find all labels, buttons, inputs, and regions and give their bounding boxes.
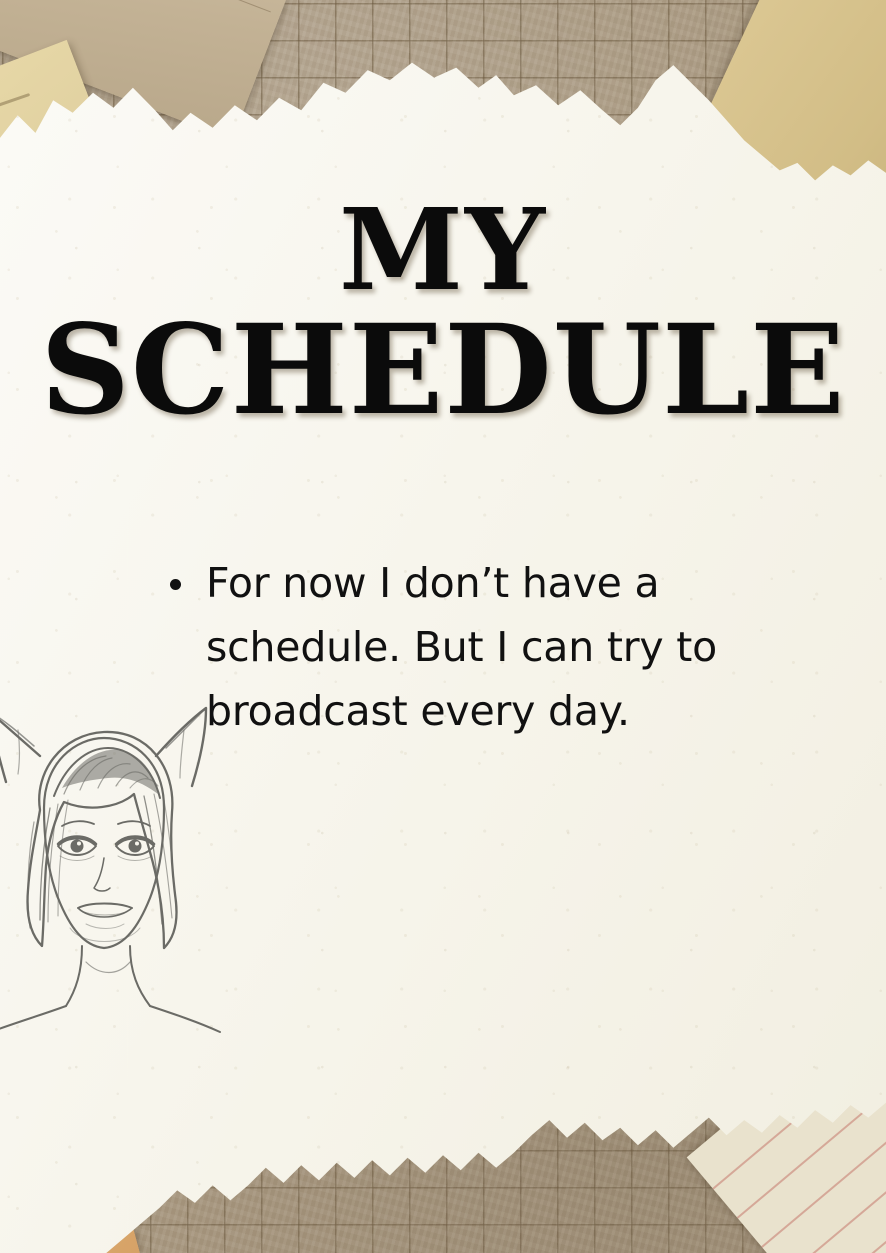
- poster-content: MY SCHEDULE For now I don’t have a sched…: [0, 0, 886, 1253]
- title-line-1: MY: [0, 196, 886, 306]
- list-item: For now I don’t have a schedule. But I c…: [168, 552, 788, 744]
- poster-canvas: PERI PERI on out of on hu leh u no tre l…: [0, 0, 886, 1253]
- page-title: MY SCHEDULE: [0, 196, 886, 431]
- list-item-text: For now I don’t have a schedule. But I c…: [206, 559, 717, 735]
- schedule-bullet-list: For now I don’t have a schedule. But I c…: [168, 552, 788, 744]
- bullet-dot-icon: [170, 579, 181, 590]
- title-line-2: SCHEDULE: [0, 310, 886, 432]
- girl-with-cat-ears-sketch: [0, 690, 258, 1040]
